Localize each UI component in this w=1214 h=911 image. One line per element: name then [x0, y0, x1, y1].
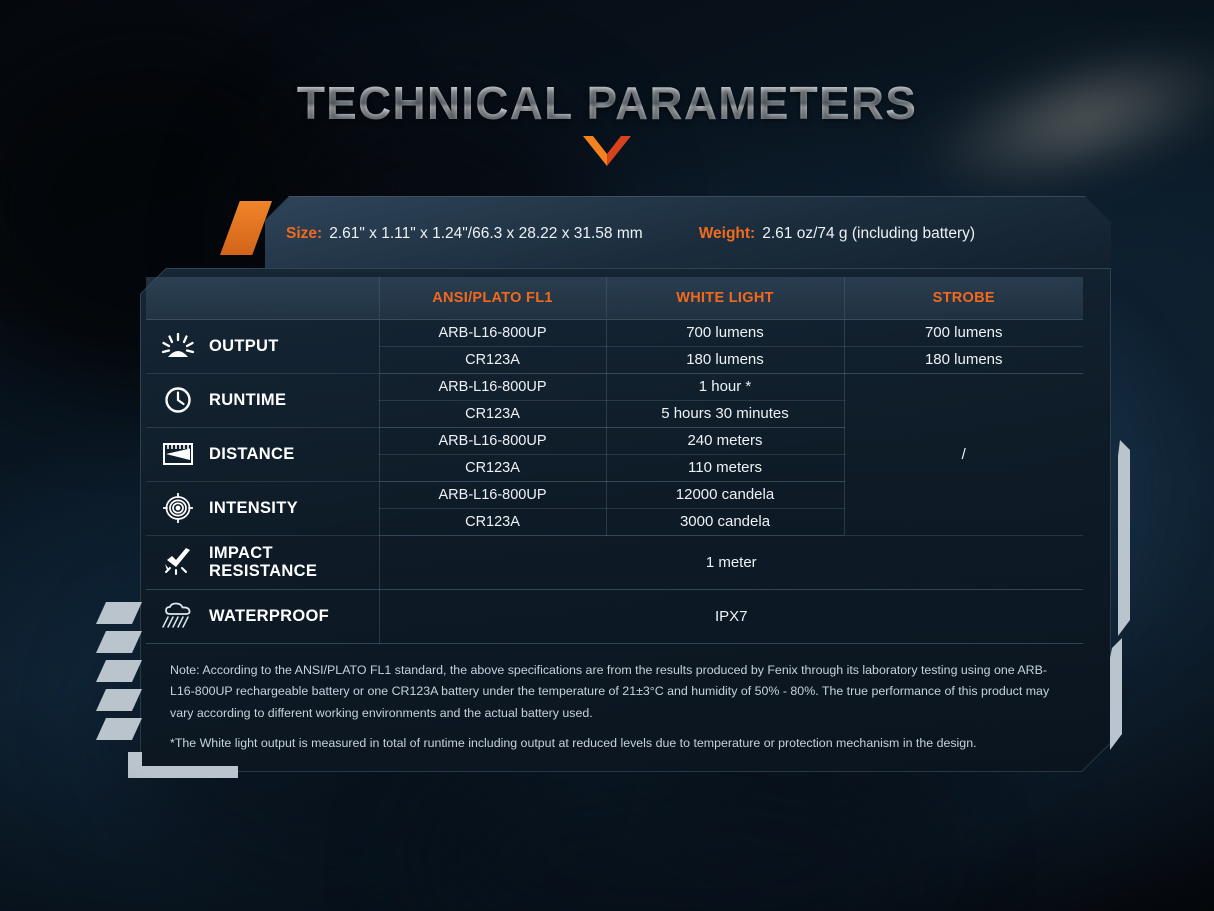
technical-parameters-page: TECHNICAL PARAMETERS — [0, 0, 1214, 911]
vignette-overlay — [0, 0, 1214, 911]
